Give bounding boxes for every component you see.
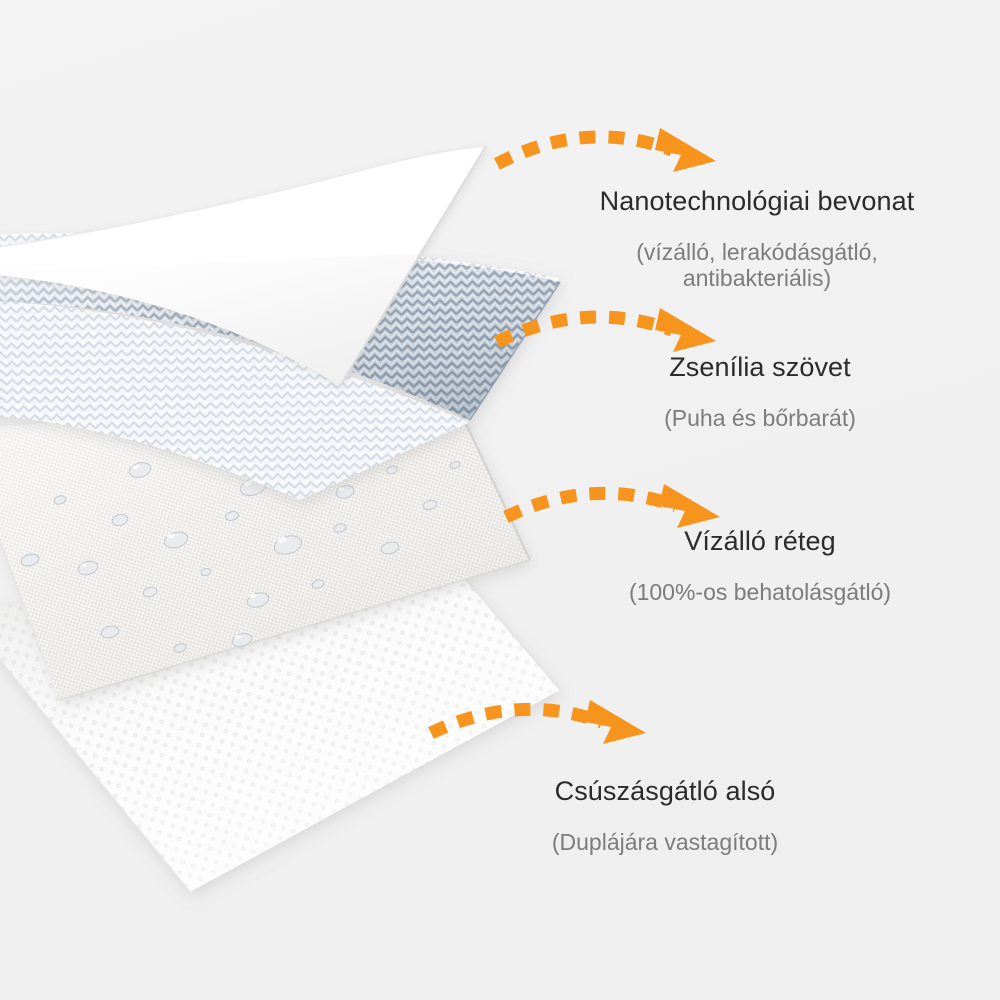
callout-subtitle: (vízálló, lerakódásgátló, antibakteriáli… (522, 240, 992, 292)
callout-zsenilia-szovet: Zsenília szövet (Puha és bőrbarát) (560, 334, 960, 450)
callout-subtitle: (100%-os behatolásgátló) (560, 580, 960, 606)
callout-csuszasgatlo-also: Csúszásgátló alsó (Duplájára vastagított… (440, 758, 890, 874)
callout-title: Zsenília szövet (560, 352, 960, 382)
callout-title: Nanotechnológiai bevonat (522, 186, 992, 216)
callout-subtitle: (Duplájára vastagított) (440, 830, 890, 856)
callout-title: Csúszásgátló alsó (440, 776, 890, 806)
infographic-canvas: Nanotechnológiai bevonat (vízálló, lerak… (0, 0, 1000, 1000)
callout-subtitle: (Puha és bőrbarát) (560, 406, 960, 432)
callout-title: Vízálló réteg (560, 526, 960, 556)
callout-nanotechnologiai-bevonat: Nanotechnológiai bevonat (vízálló, lerak… (522, 168, 992, 309)
callout-vizallo-reteg: Vízálló réteg (100%-os behatolásgátló) (560, 508, 960, 624)
